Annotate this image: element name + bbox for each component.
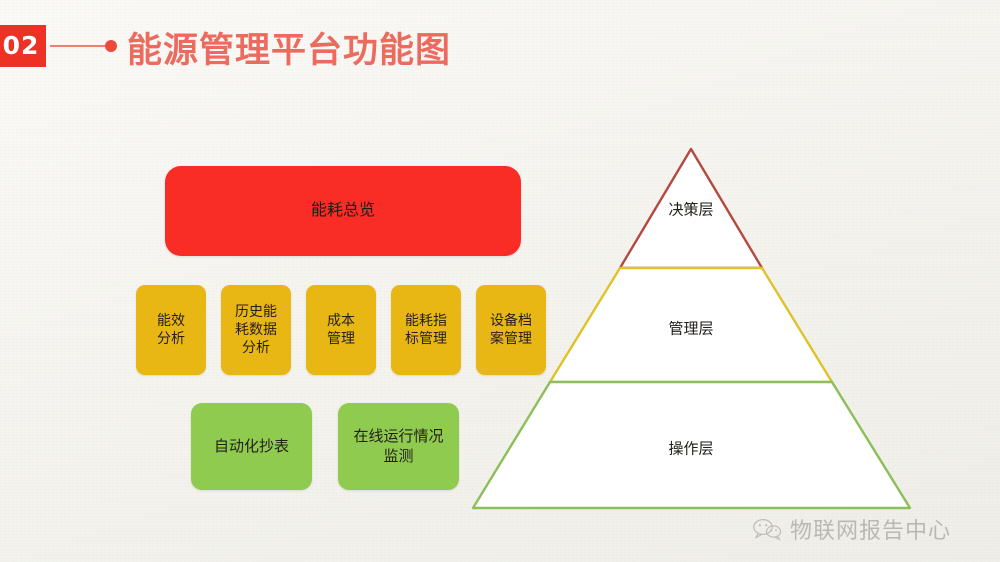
header-connector-dot: [105, 40, 117, 52]
function-box-module-2[interactable]: 历史能 耗数据 分析: [221, 285, 291, 375]
hierarchy-pyramid: 决策层 管理层 操作层: [440, 130, 950, 530]
function-box-operation-1[interactable]: 自动化抄表: [191, 403, 312, 490]
wechat-icon: [752, 517, 782, 541]
slide-canvas: 02 能源管理平台功能图 能耗总览 能效 分析 历史能 耗数据 分析 成本 管理…: [0, 0, 1000, 562]
section-number-badge: 02: [0, 25, 46, 67]
function-box-module-3[interactable]: 成本 管理: [306, 285, 376, 375]
pyramid-label-operation: 操作层: [668, 438, 713, 459]
watermark: 物联网报告中心: [752, 513, 951, 545]
watermark-text: 物联网报告中心: [790, 513, 951, 545]
header-connector-line: [50, 45, 108, 47]
function-box-module-1[interactable]: 能效 分析: [136, 285, 206, 375]
pyramid-label-decision: 决策层: [668, 199, 713, 220]
page-title: 能源管理平台功能图: [127, 22, 451, 73]
pyramid-label-management: 管理层: [668, 318, 713, 339]
